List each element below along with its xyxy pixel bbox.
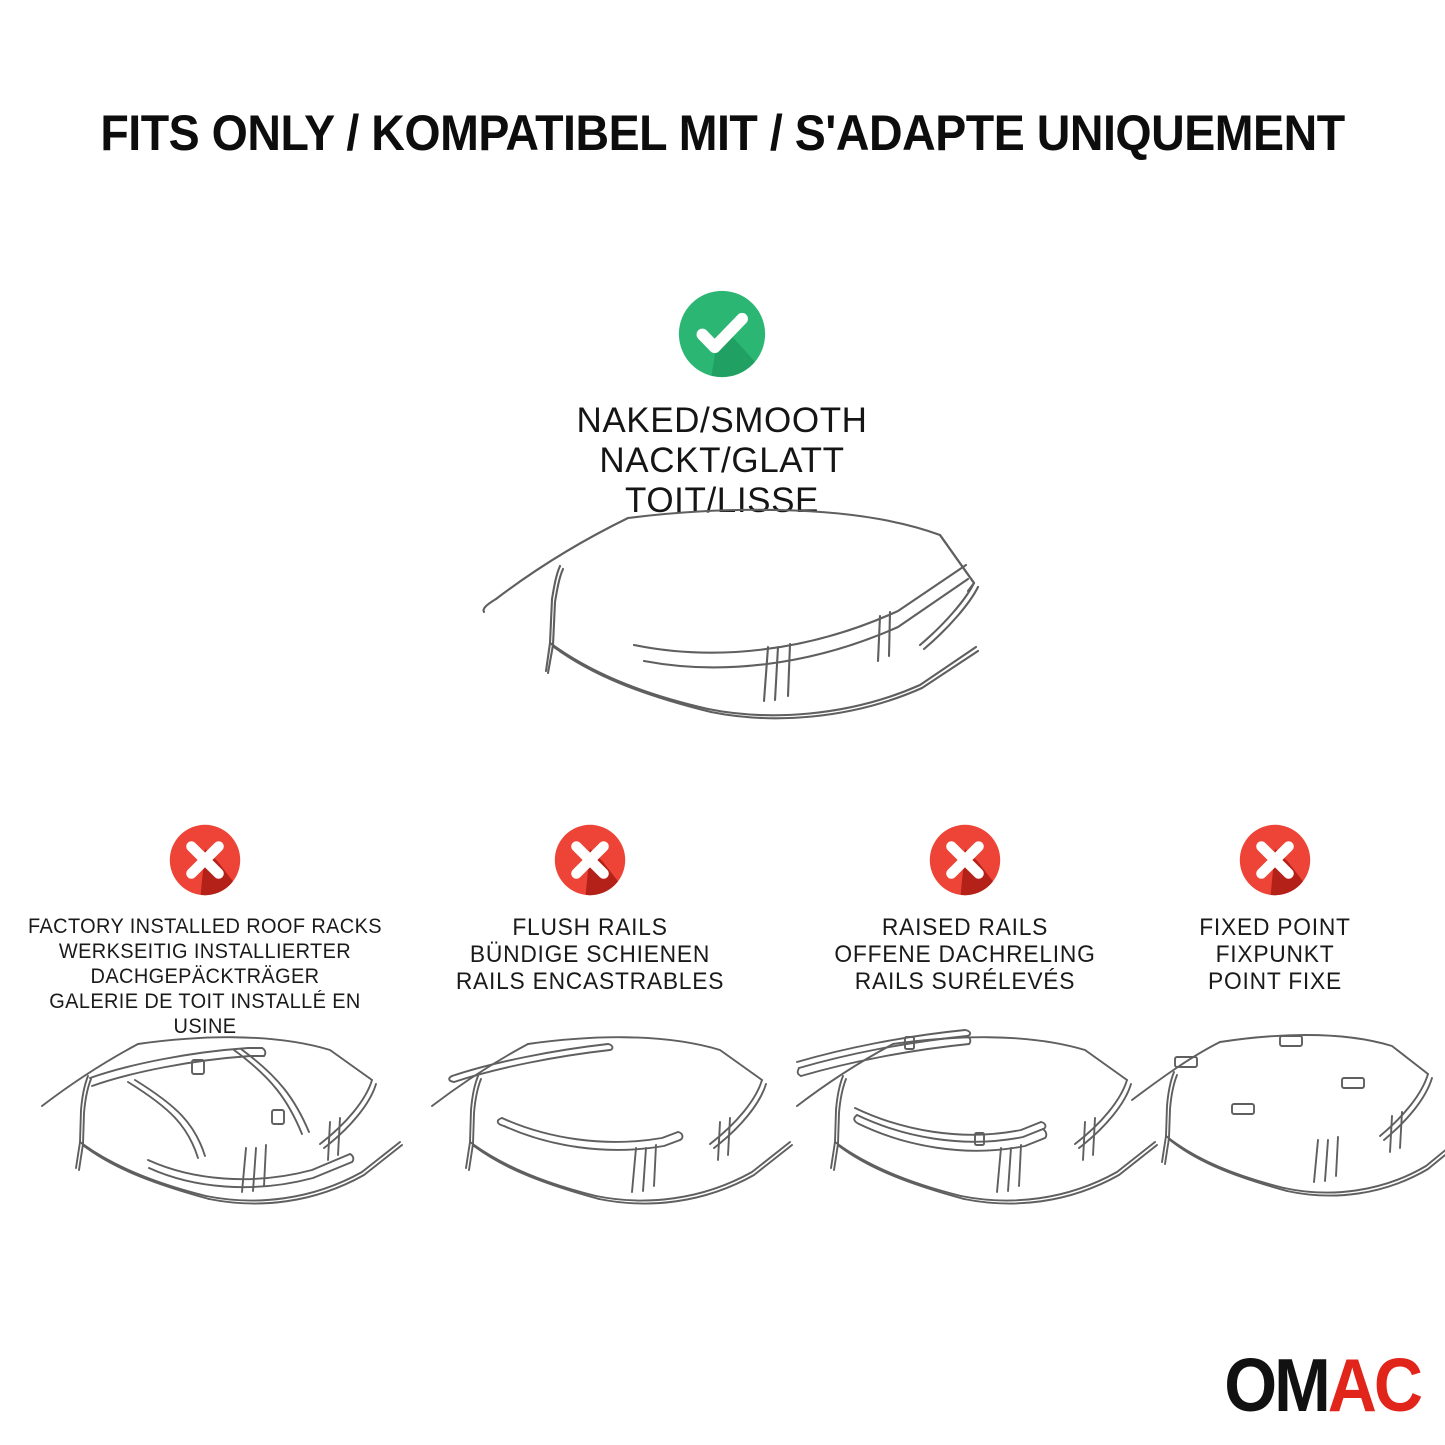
car-roof-raised-rails-illustration [775, 1020, 1165, 1235]
incompatible-label-line-3: DACHGEPÄCKTRÄGER [15, 964, 395, 989]
incompatible-label-line-1: FIXED POINT [1099, 914, 1445, 941]
incompatible-label-line-1: FLUSH RAILS [400, 914, 780, 941]
incompatible-group-factory-rack: FACTORY INSTALLED ROOF RACKS WERKSEITIG … [5, 820, 405, 1039]
logo-text-black: OM [1224, 1344, 1328, 1428]
car-roof-flush-rails-illustration [410, 1020, 800, 1235]
compatibility-infographic: FITS ONLY / KOMPATIBEL MIT / S'ADAPTE UN… [0, 0, 1445, 1445]
x-circle-icon [165, 820, 245, 900]
car-roof-factory-rack-illustration [20, 1020, 410, 1235]
incompatible-label-line-3: RAILS ENCASTRABLES [400, 968, 780, 995]
incompatible-label-line-3: POINT FIXE [1099, 968, 1445, 995]
incompatible-label-line-2: BÜNDIGE SCHIENEN [400, 941, 780, 968]
car-roof-fixed-point-illustration [1120, 1020, 1445, 1235]
logo-text-red: AC [1328, 1344, 1420, 1428]
incompatible-label-line-2: FIXPUNKT [1099, 941, 1445, 968]
incompatible-label-line-1: FACTORY INSTALLED ROOF RACKS [15, 914, 395, 939]
check-circle-icon [673, 285, 771, 383]
omac-logo: OMAC [1224, 1348, 1420, 1423]
compatible-group: NAKED/SMOOTH NACKT/GLATT TOIT/LISSE [472, 285, 972, 521]
incompatible-group-fixed-point: FIXED POINT FIXPUNKT POINT FIXE [1090, 820, 1445, 995]
x-circle-icon [925, 820, 1005, 900]
car-roof-naked-smooth-illustration [468, 495, 988, 745]
compatible-label-line-1: NAKED/SMOOTH [472, 401, 972, 441]
x-circle-icon [1235, 820, 1315, 900]
compatible-label-line-2: NACKT/GLATT [472, 441, 972, 481]
page-title: FITS ONLY / KOMPATIBEL MIT / S'ADAPTE UN… [51, 104, 1395, 162]
incompatible-label-line-2: WERKSEITIG INSTALLIERTER [15, 939, 395, 964]
x-circle-icon [550, 820, 630, 900]
incompatible-group-flush-rails: FLUSH RAILS BÜNDIGE SCHIENEN RAILS ENCAS… [390, 820, 790, 995]
